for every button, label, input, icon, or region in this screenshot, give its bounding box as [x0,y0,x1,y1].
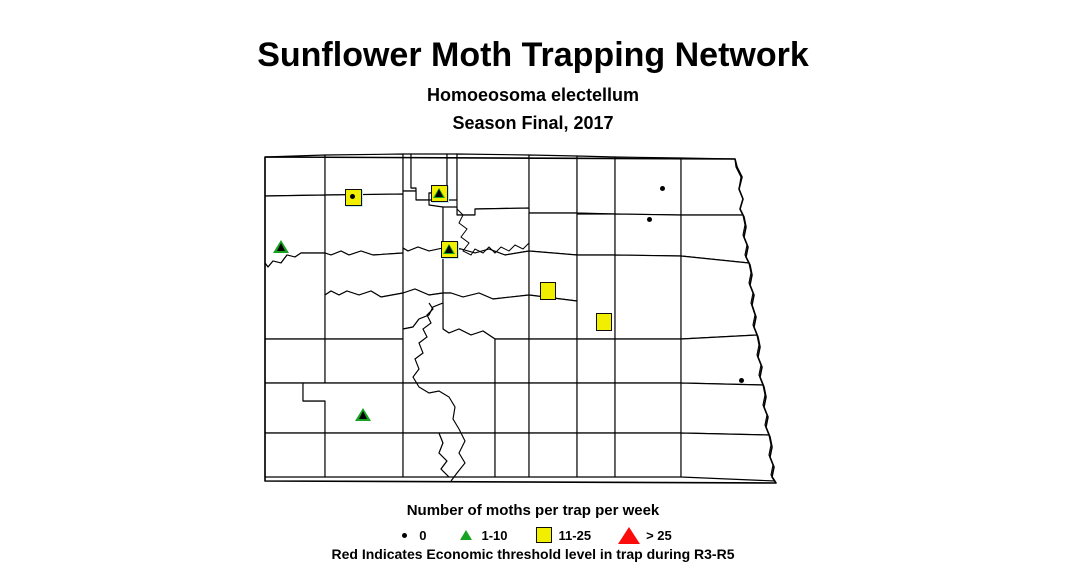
legend-items-row: 0 1-10 11-25 > 25 [0,525,1066,545]
legend: Number of moths per trap per week 0 1-10 [0,503,1066,562]
species-subtitle: Homoeosoma electellum [0,86,1066,104]
black-triangle-cap-icon [277,243,285,251]
legend-item-11-25[interactable]: 11-25 [534,525,592,545]
trap-marker-yellow-square-triangle[interactable] [431,185,448,202]
trap-marker-yellow-square-triangle[interactable] [441,241,458,258]
trap-marker-yellow-square[interactable] [540,282,556,300]
legend-label-0: 0 [419,528,426,543]
black-triangle-cap-icon [359,411,367,419]
legend-label-1-10: 1-10 [481,528,507,543]
map-svg [243,143,803,491]
trap-marker-black-dot[interactable] [739,378,744,383]
legend-label-11-25: 11-25 [559,528,592,543]
trap-marker-black-dot[interactable] [647,217,652,222]
legend-label-over-25: > 25 [646,528,672,543]
trap-marker-black-dot[interactable] [660,186,665,191]
black-triangle-cap-icon [445,245,453,253]
page-root: Sunflower Moth Trapping Network Homoeoso… [0,0,1066,587]
trap-marker-green-triangle[interactable] [273,240,289,253]
yellow-square-icon [534,525,554,545]
legend-item-1-10[interactable]: 1-10 [456,525,507,545]
period-subtitle: Season Final, 2017 [0,114,1066,132]
legend-note: Red Indicates Economic threshold level i… [0,547,1066,562]
title-block: Sunflower Moth Trapping Network Homoeoso… [0,0,1066,132]
yellow-square-symbol [540,282,556,300]
county-boundaries [265,154,775,481]
page-title: Sunflower Moth Trapping Network [0,38,1066,72]
black-triangle-cap-icon [435,189,443,197]
green-triangle-icon [456,525,476,545]
red-triangle-icon [617,525,641,545]
trap-marker-yellow-square-dot[interactable] [345,189,362,206]
black-dot-icon [394,525,414,545]
north-dakota-map[interactable] [243,143,803,491]
legend-title: Number of moths per trap per week [0,503,1066,518]
trap-marker-green-triangle[interactable] [355,408,371,421]
yellow-square-symbol [596,313,612,331]
trap-marker-yellow-square[interactable] [596,313,612,331]
legend-item-0[interactable]: 0 [394,525,426,545]
black-dot-symbol [350,194,355,199]
legend-item-over-25[interactable]: > 25 [617,525,672,545]
